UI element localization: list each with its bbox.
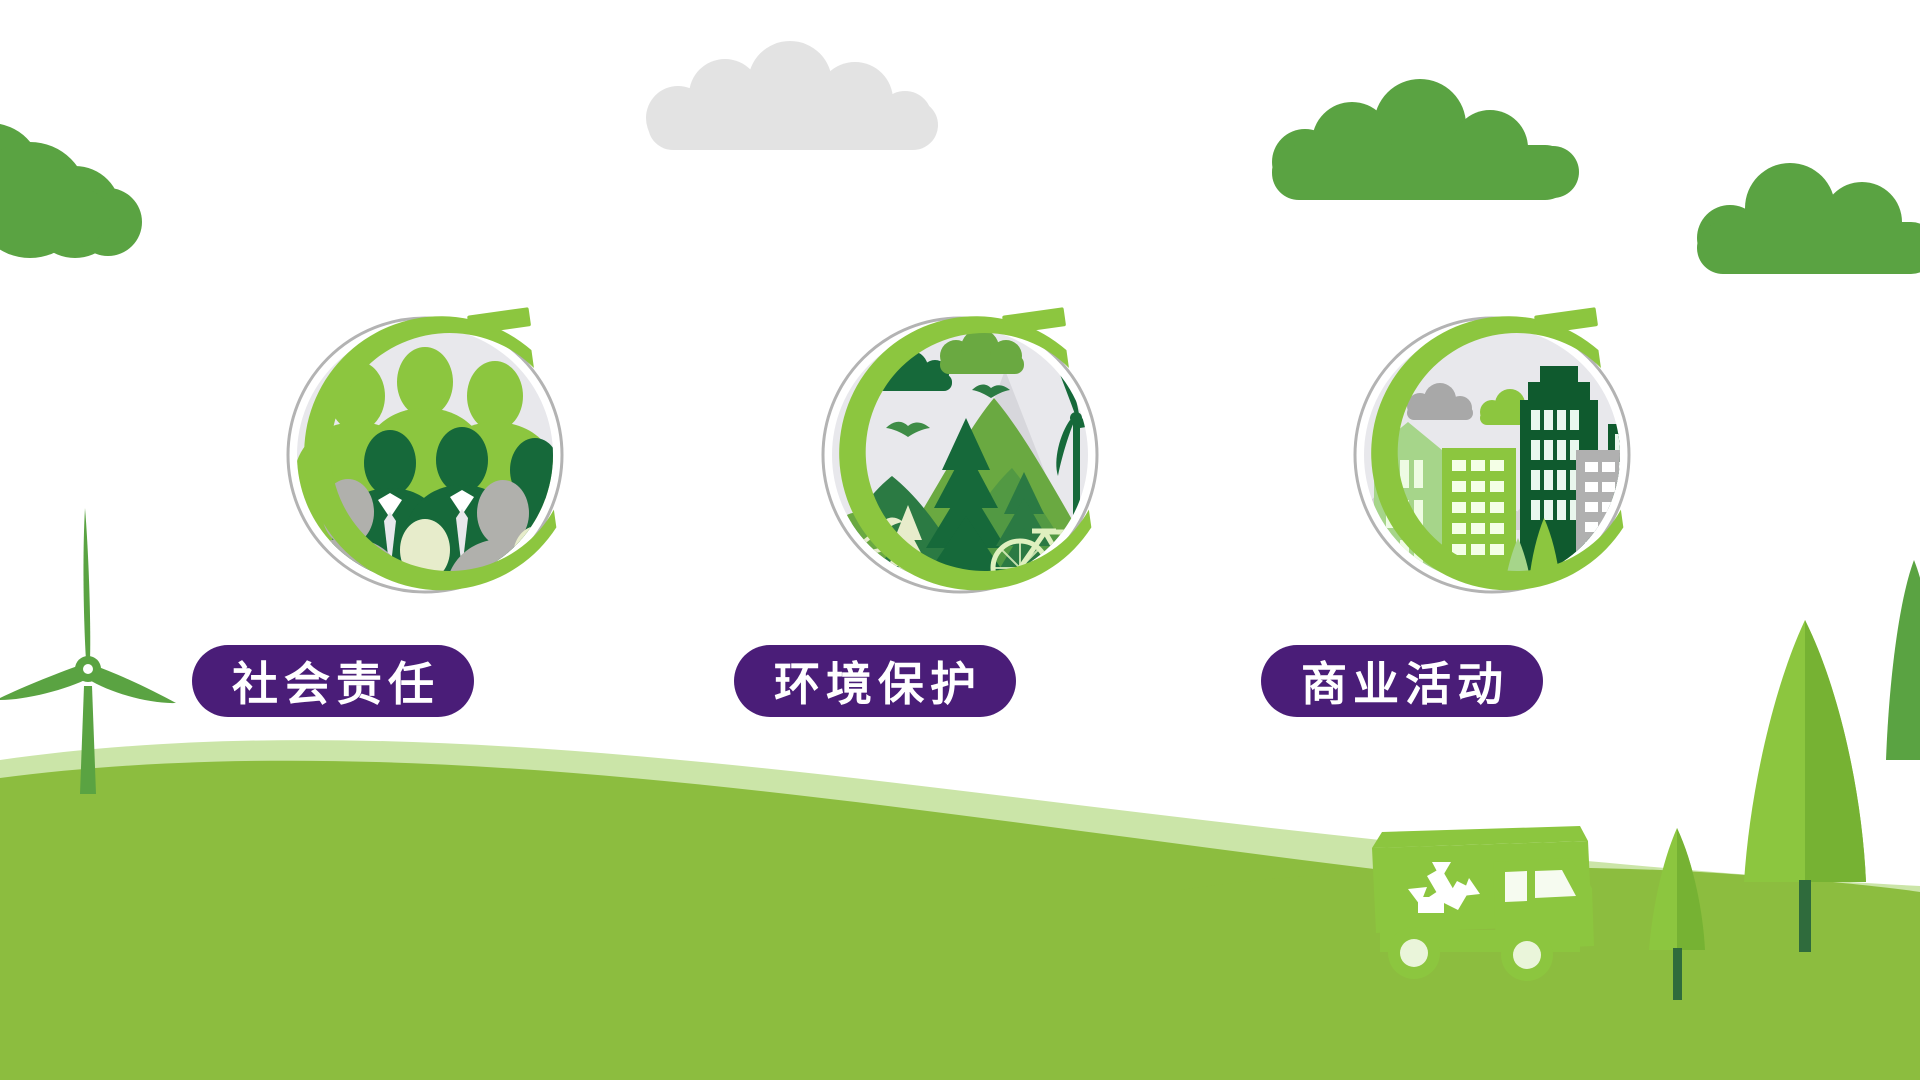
pillar-card-social[interactable]: 社会责任 bbox=[245, 300, 605, 670]
green-city-illustration bbox=[1312, 300, 1672, 670]
pillar-card-environment[interactable]: 环境保护 bbox=[780, 300, 1140, 670]
pillars-row: 社会责任 bbox=[0, 0, 1920, 1080]
people-group-illustration bbox=[245, 300, 605, 670]
pillar-label-environment[interactable]: 环境保护 bbox=[734, 645, 1016, 717]
pillar-card-business[interactable]: 商业活动 bbox=[1312, 300, 1672, 670]
city-tree-icon-1 bbox=[1354, 522, 1381, 602]
badge-business: 商业活动 bbox=[1312, 300, 1672, 670]
infographic-canvas: 社会责任 bbox=[0, 0, 1920, 1080]
badge-environment: 环境保护 bbox=[780, 300, 1140, 670]
pillar-label-business[interactable]: 商业活动 bbox=[1261, 645, 1543, 717]
road-dashes bbox=[1372, 606, 1638, 612]
pillar-label-social[interactable]: 社会责任 bbox=[192, 645, 474, 717]
nature-landscape-illustration bbox=[780, 300, 1140, 670]
badge-social: 社会责任 bbox=[245, 300, 605, 670]
